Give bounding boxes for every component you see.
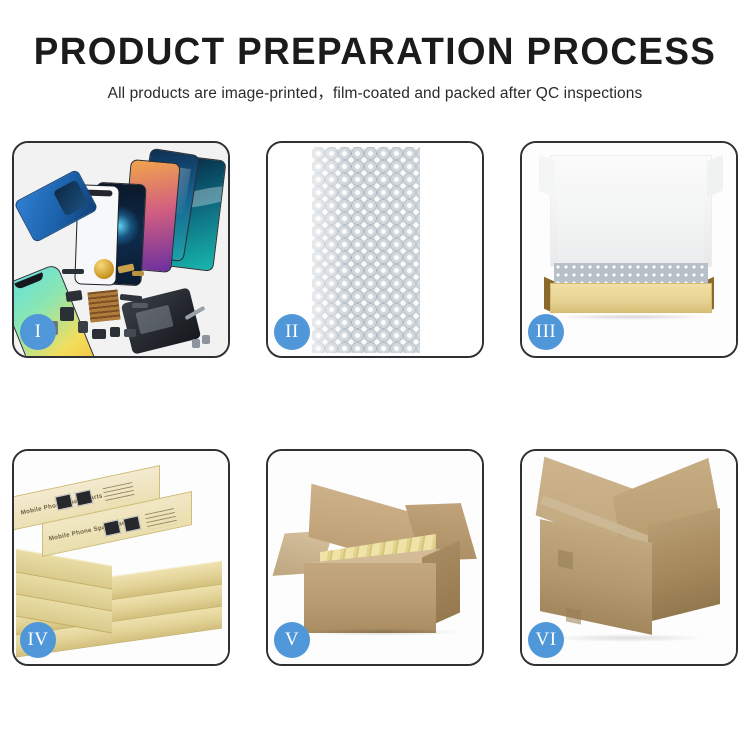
step-card-2[interactable]: II [266, 141, 484, 358]
step-badge-3: III [528, 314, 564, 350]
gold-part [94, 259, 114, 279]
page-title: PRODUCT PREPARATION PROCESS [11, 30, 739, 74]
page-header: PRODUCT PREPARATION PROCESS All products… [0, 0, 750, 106]
step-card-5[interactable]: V [266, 449, 484, 666]
step-badge-1: I [20, 314, 56, 350]
page-subtitle: All products are image-printed，film-coat… [0, 82, 750, 106]
connector-chip [88, 290, 121, 323]
process-steps-grid: I II II [12, 141, 738, 666]
box-front-panel [550, 283, 712, 313]
step-card-6[interactable]: VI [520, 449, 738, 666]
step-badge-4: IV [20, 622, 56, 658]
step-badge-6: VI [528, 622, 564, 658]
step-badge-2: II [274, 314, 310, 350]
step-badge-5: V [274, 622, 310, 658]
sealed-carton-side [648, 508, 720, 622]
product-preparation-page: PRODUCT PREPARATION PROCESS All products… [0, 0, 750, 750]
step-card-4[interactable]: Mobile Phone Spare Parts Mobile Phone Sp… [12, 449, 230, 666]
step-card-3[interactable]: III [520, 141, 738, 358]
bubble-wrap-sheet [312, 147, 420, 353]
bubble-wrapped-contents [554, 263, 708, 285]
step-card-1[interactable]: I [12, 141, 230, 358]
carton-front [304, 563, 436, 633]
box-interior [558, 195, 704, 267]
